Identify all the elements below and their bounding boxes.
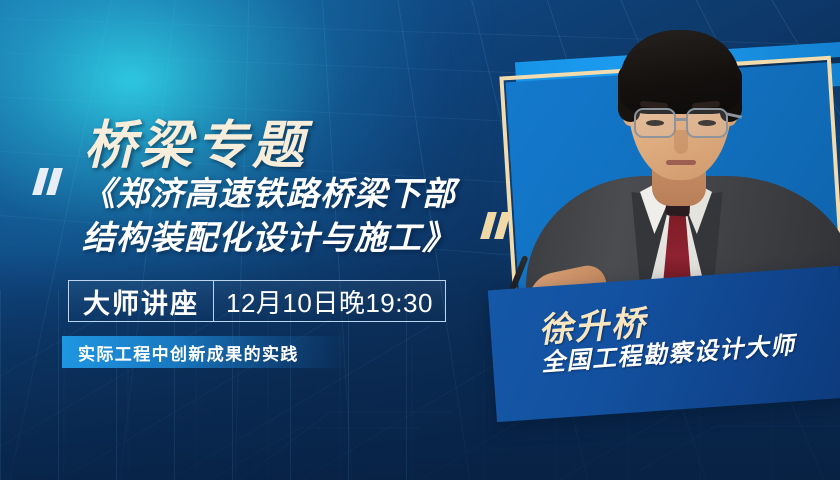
headline-block: 桥梁专题 《郑济高速铁路桥梁下部 结构装配化设计与施工》 大师讲座 12月10日… (0, 0, 520, 480)
lecture-info-box: 大师讲座 12月10日晚19:30 (68, 280, 446, 322)
quote-open-icon (36, 168, 64, 195)
speaker-photo-composition: 徐升桥 全国工程勘察设计大师 (480, 0, 840, 480)
eyeglasses-bridge (676, 118, 688, 121)
topic-label: 桥梁专题 (84, 103, 308, 178)
main-title-line-1: 《郑济高速铁路桥梁下部 (82, 172, 502, 216)
main-title: 《郑济高速铁路桥梁下部 结构装配化设计与施工》 (82, 172, 502, 259)
hair-shape (620, 30, 740, 114)
eyeglasses-lens-right (686, 108, 728, 138)
mouth-shape (666, 160, 696, 165)
subtitle-text: 实际工程中创新成果的实践 (78, 340, 299, 365)
webinar-poster: 徐升桥 全国工程勘察设计大师 桥梁专题 《郑济高速铁路桥梁下部 结构装配化设计与… (0, 0, 840, 480)
main-title-line-2: 结构装配化设计与施工》 (82, 216, 502, 260)
nose-shape (674, 130, 688, 154)
subtitle-bar: 实际工程中创新成果的实践 (62, 336, 348, 368)
eyeglasses-lens-left (634, 108, 676, 138)
speaker-name-card: 徐升桥 全国工程勘察设计大师 (488, 266, 840, 422)
series-label: 大师讲座 (69, 281, 214, 321)
datetime-label: 12月10日晚19:30 (214, 281, 445, 321)
